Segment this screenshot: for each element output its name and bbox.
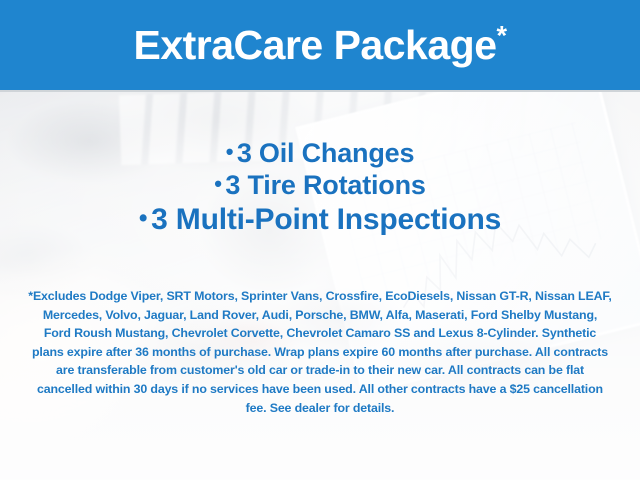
page-title-text: ExtraCare Package bbox=[133, 22, 496, 68]
benefits-list: •3 Oil Changes •3 Tire Rotations •3 Mult… bbox=[0, 138, 640, 237]
benefit-item-tire-rotations: •3 Tire Rotations bbox=[0, 170, 640, 202]
benefit-item-multi-point-inspections: •3 Multi-Point Inspections bbox=[0, 202, 640, 237]
benefit-item-label: 3 Tire Rotations bbox=[225, 170, 425, 200]
disclaimer-fine-print: *Excludes Dodge Viper, SRT Motors, Sprin… bbox=[28, 287, 612, 417]
bullet-dot-icon: • bbox=[139, 205, 147, 232]
benefit-item-label: 3 Multi-Point Inspections bbox=[151, 203, 501, 236]
benefit-item-oil-changes: •3 Oil Changes bbox=[0, 138, 640, 170]
header-banner: ExtraCare Package* bbox=[0, 0, 640, 92]
benefit-item-label: 3 Oil Changes bbox=[237, 138, 414, 168]
extracare-package-promo-card: ExtraCare Package* •3 Oil Changes •3 Tir… bbox=[0, 0, 640, 480]
page-title: ExtraCare Package* bbox=[133, 25, 506, 66]
bullet-dot-icon: • bbox=[214, 171, 222, 196]
page-title-asterisk: * bbox=[497, 20, 507, 50]
bullet-dot-icon: • bbox=[226, 139, 234, 164]
